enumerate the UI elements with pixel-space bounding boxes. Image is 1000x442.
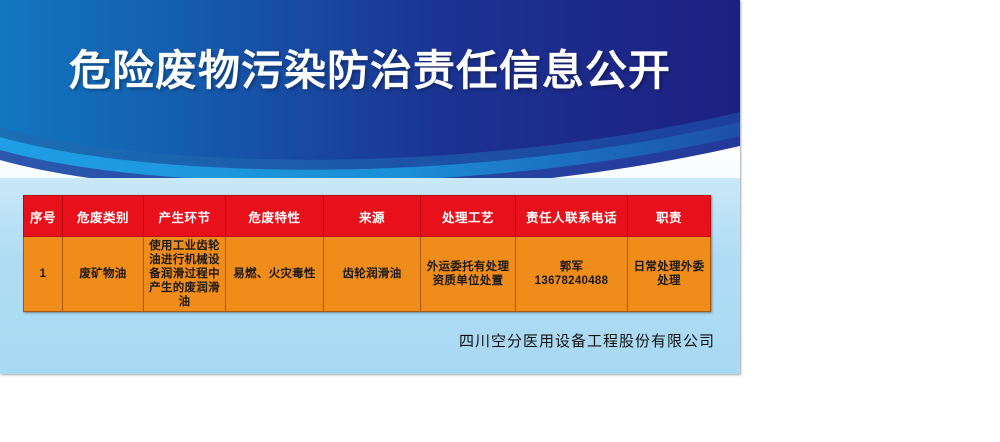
- cell-category: 废矿物油: [63, 237, 144, 312]
- cell-treatment-process: 外运委托有处理资质单位处置: [421, 237, 516, 312]
- column-header-source: 来源: [324, 196, 421, 237]
- page-title: 危险废物污染防治责任信息公开: [0, 46, 740, 96]
- cell-contact: 郭军 13678240488: [516, 237, 628, 312]
- company-name: 四川空分医用设备工程股份有限公司: [0, 330, 715, 351]
- cell-hazard-property: 易燃、火灾毒性: [226, 237, 324, 312]
- hazardous-waste-table: 序号 危废类别 产生环节 危废特性 来源 处理工艺 责任人联系电话 职责 1 废…: [23, 195, 711, 312]
- column-header-generation-stage: 产生环节: [144, 196, 226, 237]
- column-header-index: 序号: [24, 196, 63, 237]
- column-header-duty: 职责: [628, 196, 711, 237]
- column-header-contact: 责任人联系电话: [516, 196, 628, 237]
- cell-source: 齿轮润滑油: [324, 237, 421, 312]
- column-header-hazard-property: 危废特性: [226, 196, 324, 237]
- cell-index: 1: [24, 237, 63, 312]
- cell-duty: 日常处理外委处理: [628, 237, 711, 312]
- table-row: 1 废矿物油 使用工业齿轮油进行机械设备润滑过程中产生的废润滑油 易燃、火灾毒性…: [24, 237, 711, 312]
- banner-header: 危险废物污染防治责任信息公开: [0, 0, 740, 178]
- contact-person-name: 郭军: [520, 260, 623, 274]
- poster-panel: 危险废物污染防治责任信息公开 序号 危废类别 产生环节 危废特性 来源 处理工艺…: [0, 0, 740, 374]
- contact-phone-number: 13678240488: [520, 274, 623, 288]
- cell-generation-stage: 使用工业齿轮油进行机械设备润滑过程中产生的废润滑油: [144, 237, 226, 312]
- column-header-category: 危废类别: [63, 196, 144, 237]
- column-header-treatment-process: 处理工艺: [421, 196, 516, 237]
- table-header-row: 序号 危废类别 产生环节 危废特性 来源 处理工艺 责任人联系电话 职责: [24, 196, 711, 237]
